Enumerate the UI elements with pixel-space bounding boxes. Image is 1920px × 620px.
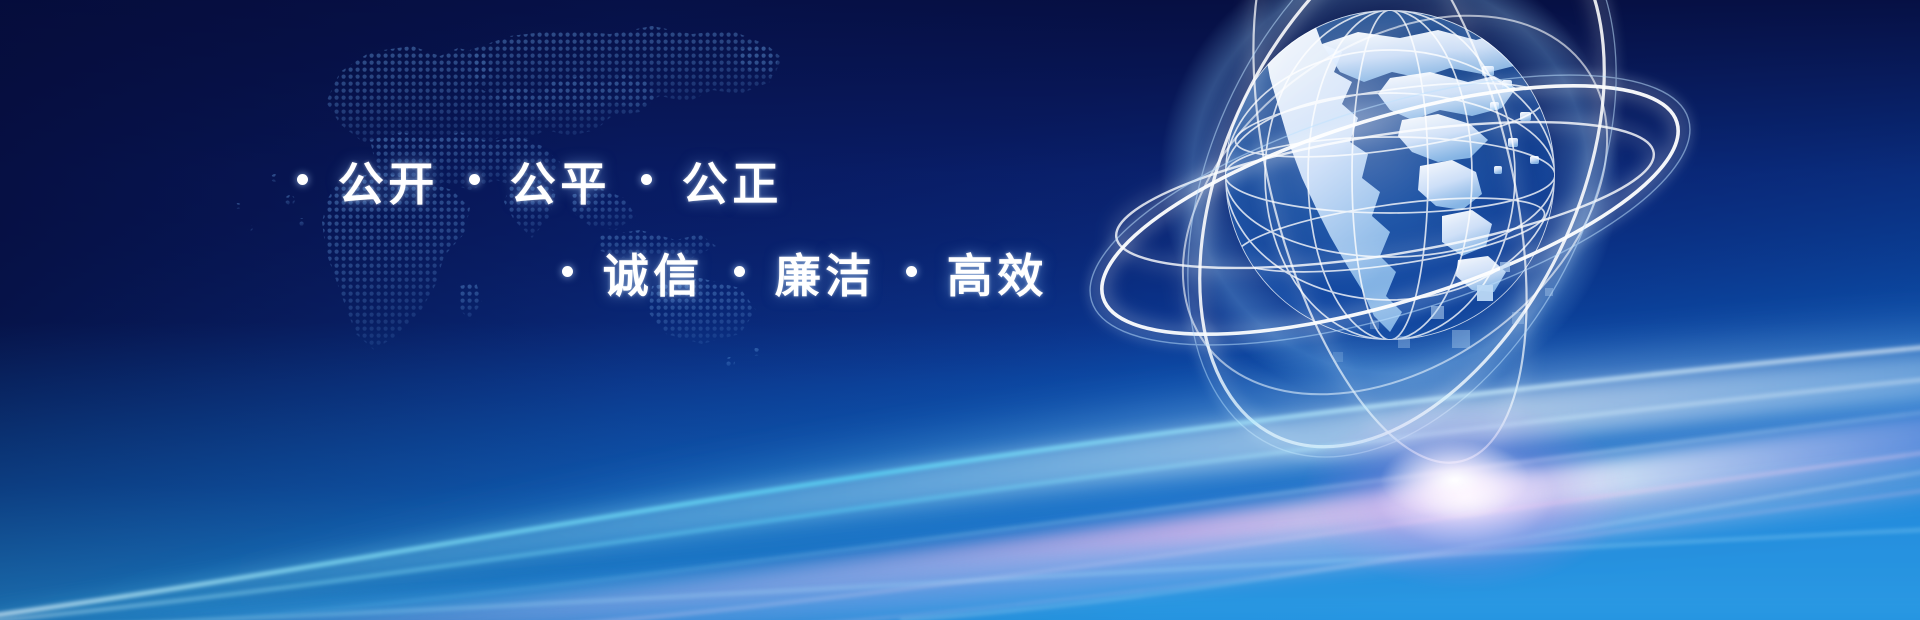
bullet-dot-icon — [734, 266, 745, 277]
pixel-square — [1500, 262, 1510, 272]
slogan-line-2: 诚信 廉洁 高效 — [548, 240, 1048, 306]
slogan-word-3: 高效 — [947, 240, 1048, 306]
slogan-word-1: 诚信 — [603, 240, 704, 306]
banner-root: 公开 公平 公正 诚信 廉洁 高效 — [0, 0, 1920, 620]
bullet-dot-icon — [906, 266, 917, 277]
bullet-dot-icon — [641, 174, 652, 185]
flowing-light-waves — [0, 290, 1920, 620]
slogan-word-3: 公正 — [682, 148, 783, 214]
bullet-dot-icon — [297, 174, 308, 185]
light-hotspot-core — [1380, 440, 1530, 520]
bullet-dot-icon — [469, 174, 480, 185]
slogan-line-1: 公开 公平 公正 — [283, 148, 783, 214]
slogan-word-2: 廉洁 — [775, 240, 876, 306]
slogan-word-2: 公平 — [510, 148, 611, 214]
slogan-word-1: 公开 — [338, 148, 439, 214]
bullet-dot-icon — [562, 266, 573, 277]
